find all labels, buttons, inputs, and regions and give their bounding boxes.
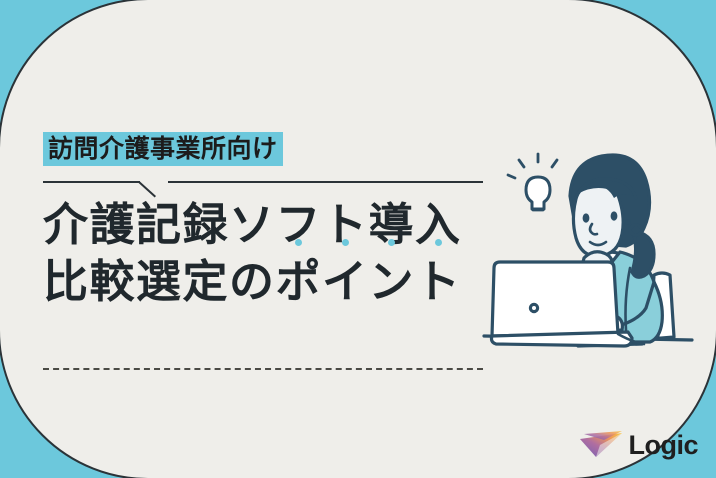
eye-right — [611, 211, 618, 220]
logo-wordmark: Logic — [629, 432, 699, 459]
title-line-2: 比較選定のポイント — [43, 253, 513, 310]
bottom-dashed-divider — [43, 368, 483, 370]
illustration-svg — [478, 140, 716, 372]
laptop-logo — [530, 304, 537, 311]
ponytail — [632, 232, 654, 277]
promo-banner: 訪問介護事業所向け 介護記録ソフト導入 比較選定のポイント — [0, 0, 716, 478]
lightbulb-icon — [508, 154, 557, 210]
divider-segment-right — [168, 181, 483, 183]
audience-badge: 訪問介護事業所向け — [43, 132, 283, 166]
gradient-arrow-icon — [578, 430, 624, 460]
eye-left — [583, 213, 590, 222]
title-line-2-prefix: 比較選定の — [43, 256, 276, 307]
hair-tie — [630, 225, 642, 235]
brand-logo[interactable]: Logic — [578, 430, 699, 460]
laptop-base — [492, 332, 633, 346]
earring — [625, 219, 631, 225]
title-line-2-emphasis: ポイント — [276, 256, 462, 307]
illustration-woman-at-laptop — [478, 140, 716, 372]
title-divider — [43, 176, 483, 194]
divider-segment-left — [43, 181, 140, 183]
laptop-screen — [492, 262, 618, 336]
page-title: 介護記録ソフト導入 比較選定のポイント — [43, 196, 513, 310]
title-line-2-emphasis-wrap: ポイント — [276, 256, 462, 307]
title-line-1: 介護記録ソフト導入 — [43, 196, 513, 253]
